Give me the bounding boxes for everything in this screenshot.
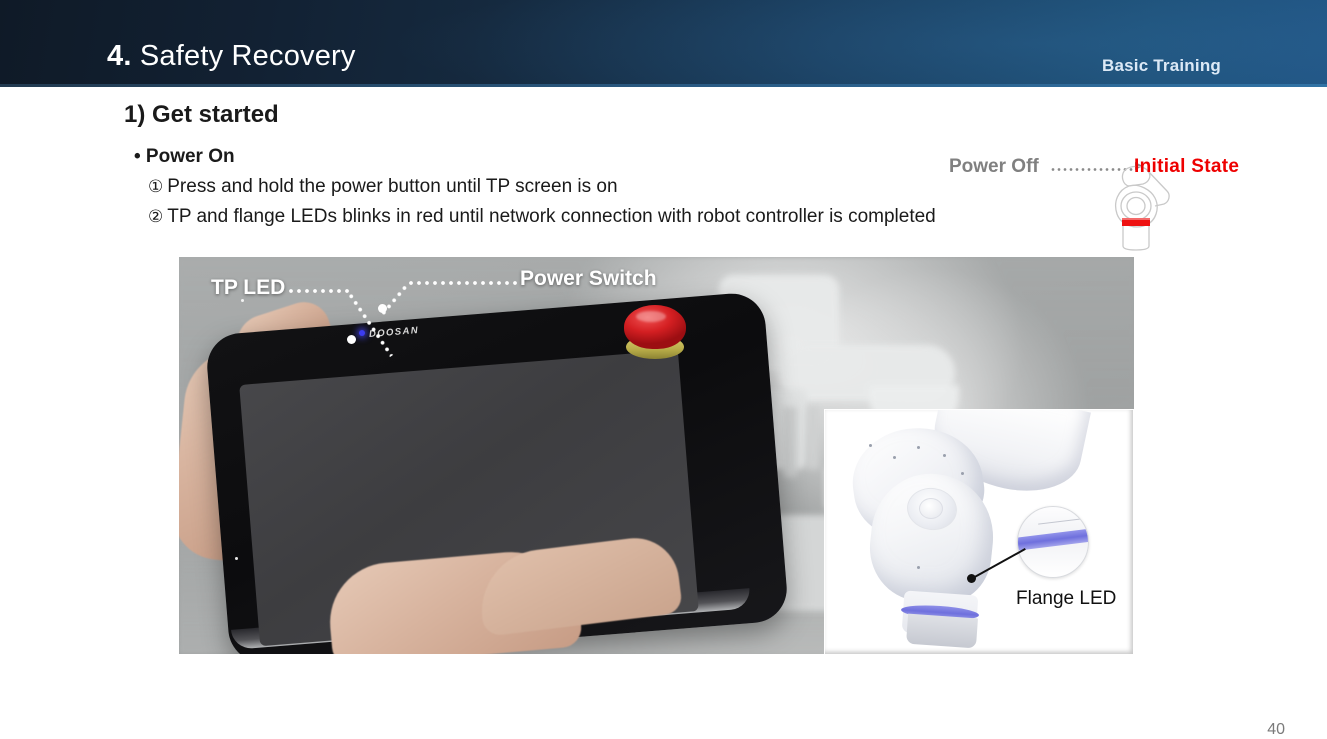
step-item-1: ①Press and hold the power button until T… xyxy=(148,176,618,198)
robot-arm-screw xyxy=(893,456,896,459)
initial-state-label: Initial State xyxy=(1134,156,1239,178)
page-number: 40 xyxy=(1267,721,1285,739)
robot-arm-screw xyxy=(917,446,920,449)
power-off-label: Power Off xyxy=(949,156,1039,178)
tp-led-leader-horizontal xyxy=(287,289,353,293)
step-text-2: TP and flange LEDs blinks in red until n… xyxy=(167,206,936,227)
page-title-number: 4. xyxy=(107,40,132,72)
robot-arm-screw xyxy=(943,454,946,457)
robot-arm-screw xyxy=(961,472,964,475)
step-marker-2: ② xyxy=(148,207,163,226)
state-transition-callout: Power Off Initial State xyxy=(940,150,1270,255)
robot-flange-tip xyxy=(906,614,978,649)
section-title: 1) Get started xyxy=(124,101,279,129)
step-text-1: Press and hold the power button until TP… xyxy=(167,176,617,197)
flange-led-leader-endpoint xyxy=(967,574,976,583)
bullet-power-on: • Power On xyxy=(134,146,235,168)
flange-led-inset-panel: Flange LED xyxy=(825,410,1133,654)
tp-led-label: TP LED xyxy=(211,276,285,300)
step-item-2: ②TP and flange LEDs blinks in red until … xyxy=(148,206,936,228)
background-robot-part xyxy=(783,407,797,477)
emergency-stop-button xyxy=(622,305,688,365)
robot-arm-screw xyxy=(917,566,920,569)
robot-arm-screw xyxy=(869,444,872,447)
power-switch-leader-endpoint xyxy=(378,304,387,313)
flange-led-magnifier-bubble xyxy=(1017,506,1089,578)
header-course-label: Basic Training xyxy=(1102,56,1221,76)
flange-led-label: Flange LED xyxy=(1016,588,1116,610)
slide-header-banner: 4. Safety Recovery Basic Training xyxy=(0,0,1327,87)
power-switch-label: Power Switch xyxy=(520,267,657,291)
tp-corner-highlight xyxy=(235,557,238,560)
tp-led-leader-endpoint xyxy=(347,335,356,344)
magnifier-seam-line xyxy=(1038,518,1082,524)
page-title: 4. Safety Recovery xyxy=(107,40,356,73)
robot-arm-joint-cap-inner xyxy=(919,498,943,519)
step-marker-1: ① xyxy=(148,177,163,196)
background-robot-part xyxy=(807,407,819,469)
page-title-text: Safety Recovery xyxy=(140,40,356,72)
tp-led-indicator xyxy=(359,330,365,336)
power-switch-leader-horizontal xyxy=(407,281,517,285)
teach-pendant-photo: DOOSAN TP LED Power Switch xyxy=(179,257,1134,654)
magnifier-led-band xyxy=(1017,528,1089,551)
estop-highlight xyxy=(636,311,666,322)
